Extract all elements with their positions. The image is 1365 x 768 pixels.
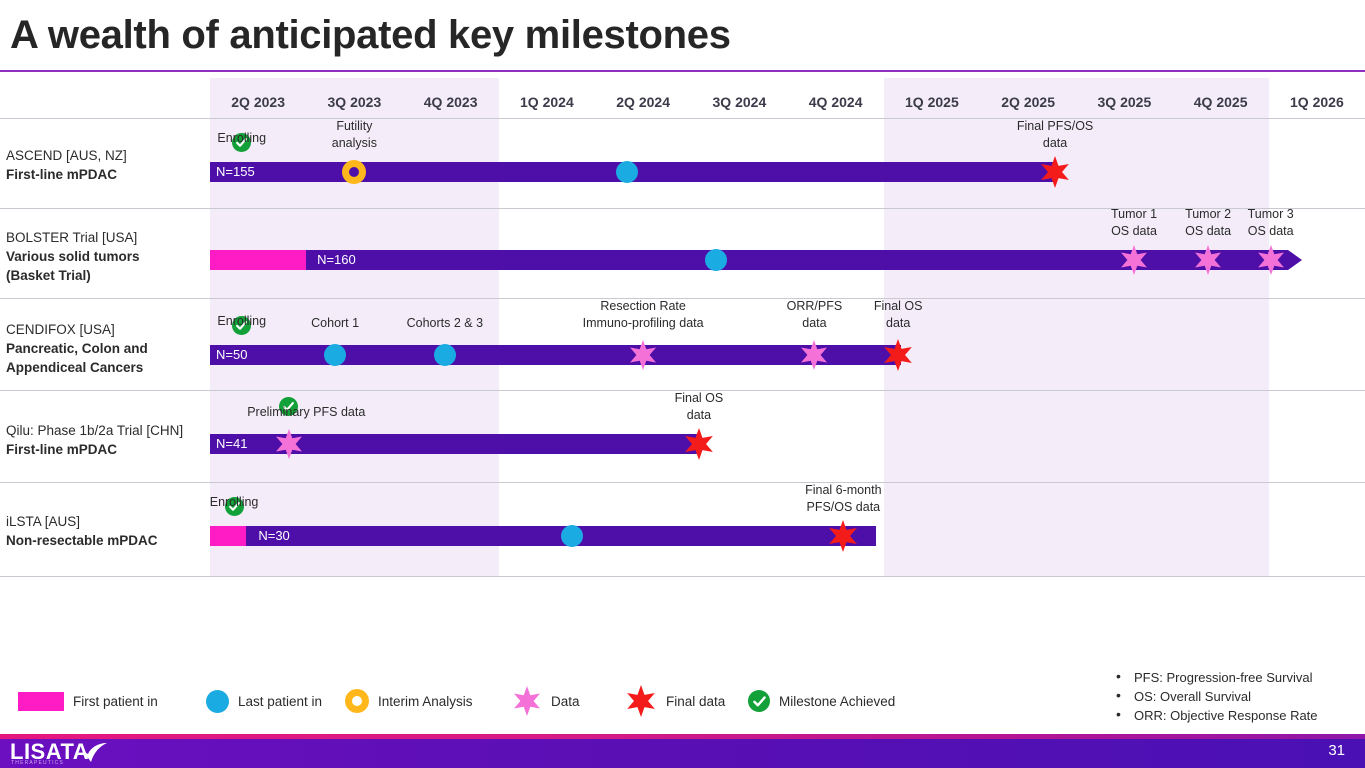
enrollment-count: N=50 — [210, 345, 247, 365]
leaf-icon — [82, 742, 108, 768]
timeline-column-header: 2Q 2025 — [980, 88, 1076, 116]
legend-item: Final data — [625, 684, 725, 718]
legend-item: Last patient in — [206, 684, 322, 718]
trial-indication: First-line mPDAC — [6, 165, 206, 184]
abbreviation-item: PFS: Progression-free Survival — [1110, 668, 1360, 687]
milestone-caption: Preliminary PFS data — [216, 404, 396, 421]
milestone-caption: Final PFS/OS data — [990, 118, 1120, 152]
milestone-caption: Enrolling — [187, 130, 297, 147]
timeline-column-header: 1Q 2025 — [884, 88, 980, 116]
page-number: 31 — [1328, 742, 1345, 759]
pink-star-icon — [512, 686, 542, 716]
legend-label: Data — [551, 694, 580, 709]
title-divider — [0, 70, 1365, 72]
amber-ring-icon — [342, 160, 366, 184]
trial-name: Qilu: Phase 1b/2a Trial [CHN] — [6, 421, 206, 440]
legend-item: Milestone Achieved — [748, 684, 895, 718]
amber-ring-icon — [345, 689, 369, 713]
timeline-column-header: 3Q 2024 — [691, 88, 787, 116]
milestone-caption: Final 6-month PFS/OS data — [773, 482, 913, 516]
pink-square-icon — [18, 692, 64, 711]
milestone-caption: Cohort 1 — [280, 315, 390, 332]
blue-circle-icon — [616, 161, 638, 183]
blue-circle-icon — [434, 344, 456, 366]
trial-indication: Various solid tumors (Basket Trial) — [6, 247, 206, 285]
abbreviation-item: OS: Overall Survival — [1110, 687, 1360, 706]
blue-circle-icon — [561, 525, 583, 547]
blue-circle-icon — [324, 344, 346, 366]
page-title: A wealth of anticipated key milestones — [10, 8, 731, 62]
timeline-bar — [210, 526, 876, 546]
enrollment-count: N=30 — [252, 526, 289, 546]
timeline-column-header: 4Q 2023 — [403, 88, 499, 116]
pink-star-icon — [1119, 245, 1149, 280]
enrollment-count: N=160 — [311, 250, 356, 270]
lisata-logo: LISATA THERAPEUTICS — [10, 740, 108, 768]
milestone-caption: Resection Rate Immuno-profiling data — [538, 298, 748, 332]
timeline-bar — [210, 345, 901, 365]
milestone-caption: Enrolling — [179, 494, 289, 511]
pink-star-icon — [1256, 245, 1286, 280]
trial-row-label: BOLSTER Trial [USA]Various solid tumors … — [6, 228, 206, 285]
legend-item: Data — [512, 684, 580, 718]
trial-indication: Pancreatic, Colon and Appendiceal Cancer… — [6, 339, 206, 377]
trial-name: iLSTA [AUS] — [6, 512, 206, 531]
trial-row-label: CENDIFOX [USA]Pancreatic, Colon and Appe… — [6, 320, 206, 377]
enrollment-count: N=41 — [210, 434, 247, 454]
logo-tagline: THERAPEUTICS — [11, 760, 64, 766]
trial-name: ASCEND [AUS, NZ] — [6, 146, 206, 165]
abbreviations-list: PFS: Progression-free SurvivalOS: Overal… — [1110, 668, 1360, 725]
trial-name: BOLSTER Trial [USA] — [6, 228, 206, 247]
blue-circle-icon — [206, 690, 229, 713]
red-star-icon — [1039, 156, 1071, 193]
timeline-column-header: 4Q 2025 — [1173, 88, 1269, 116]
trial-indication: Non-resectable mPDAC — [6, 531, 206, 550]
legend-item: First patient in — [18, 684, 158, 718]
trial-row-label: Qilu: Phase 1b/2a Trial [CHN]First-line … — [6, 421, 206, 459]
legend-label: Last patient in — [238, 694, 322, 709]
red-star-icon — [827, 520, 859, 557]
first-patient-in-segment — [210, 250, 306, 270]
row-separator — [0, 576, 1365, 577]
timeline-column-header: 3Q 2025 — [1076, 88, 1172, 116]
legend-label: Interim Analysis — [378, 694, 473, 709]
timeline-column-header: 2Q 2023 — [210, 88, 306, 116]
trial-indication: First-line mPDAC — [6, 440, 206, 459]
timeline-column-header: 3Q 2023 — [306, 88, 402, 116]
pink-star-icon — [1193, 245, 1223, 280]
enrollment-count: N=155 — [210, 162, 255, 182]
red-star-icon — [882, 339, 914, 376]
bar-arrow-tip — [1288, 250, 1302, 270]
footer-accent-line — [0, 734, 1365, 739]
red-star-icon — [683, 428, 715, 465]
timeline-column-header: 2Q 2024 — [595, 88, 691, 116]
row-separator — [0, 482, 1365, 483]
legend-label: Milestone Achieved — [779, 694, 895, 709]
milestone-caption: Cohorts 2 & 3 — [380, 315, 510, 332]
timeline-column-header: 1Q 2026 — [1269, 88, 1365, 116]
pink-star-icon — [628, 340, 658, 375]
row-separator — [0, 118, 1365, 119]
footer-bar — [0, 734, 1365, 768]
trial-name: CENDIFOX [USA] — [6, 320, 206, 339]
pink-star-icon — [799, 340, 829, 375]
legend-item: Interim Analysis — [345, 684, 473, 718]
trial-row-label: ASCEND [AUS, NZ]First-line mPDAC — [6, 146, 206, 184]
red-star-icon — [625, 685, 657, 717]
legend-label: Final data — [666, 694, 725, 709]
first-patient-in-segment — [210, 526, 246, 546]
pink-star-icon — [274, 429, 304, 464]
abbreviation-item: ORR: Objective Response Rate — [1110, 706, 1360, 725]
legend-label: First patient in — [73, 694, 158, 709]
milestone-caption: Tumor 3 OS data — [1216, 206, 1326, 240]
blue-circle-icon — [705, 249, 727, 271]
milestone-caption: Final OS data — [644, 390, 754, 424]
slide-root: A wealth of anticipated key milestones 2… — [0, 0, 1365, 768]
milestone-caption: Final OS data — [848, 298, 948, 332]
timeline-column-header: 1Q 2024 — [499, 88, 595, 116]
milestone-caption: Futility analysis — [299, 118, 409, 152]
green-check-icon — [748, 690, 770, 712]
timeline-column-header: 4Q 2024 — [788, 88, 884, 116]
trial-row-label: iLSTA [AUS]Non-resectable mPDAC — [6, 512, 206, 550]
